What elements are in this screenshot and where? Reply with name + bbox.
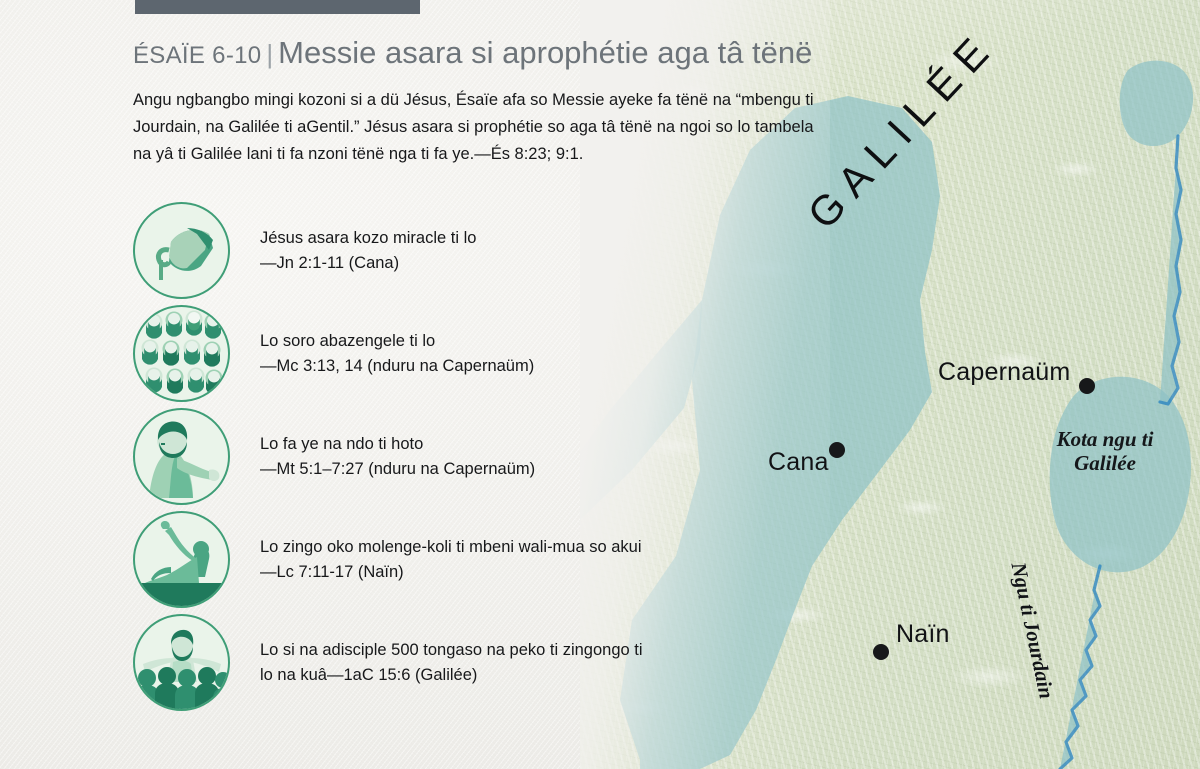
sea-label-line-2: Galilée xyxy=(1040,452,1170,476)
list-item: Lo si na adisciple 500 tongaso na peko t… xyxy=(133,611,863,714)
map-city-label-nain: Naïn xyxy=(896,620,950,649)
list-item-text: Lo soro abazengele ti lo —Mc 3:13, 14 (n… xyxy=(260,329,534,379)
map-city-dot-capernaum xyxy=(1078,377,1096,395)
list-item: Lo zingo oko molenge-koli ti mbeni wali-… xyxy=(133,508,863,611)
list-item-text: Lo fa ye na ndo ti hoto —Mt 5:1–7:27 (nd… xyxy=(260,432,535,482)
event-line-2: lo na kuâ—1aC 15:6 (Galilée) xyxy=(260,663,643,688)
jesus-crowd-icon xyxy=(133,614,230,711)
event-line-1: Lo si na adisciple 500 tongaso na peko t… xyxy=(260,638,643,663)
event-line-1: Jésus asara kozo miracle ti lo xyxy=(260,226,476,251)
list-item: Jésus asara kozo miracle ti lo —Jn 2:1-1… xyxy=(133,199,863,302)
title-separator: | xyxy=(261,39,278,69)
page-title: ÉSAÏE 6-10|Messie asara si aprophétie ag… xyxy=(133,36,863,70)
water-jar-icon xyxy=(133,202,230,299)
title-main-text: Messie asara si aprophétie aga tâ tënë xyxy=(278,35,812,70)
list-item: Lo fa ye na ndo ti hoto —Mt 5:1–7:27 (nd… xyxy=(133,405,863,508)
infographic-page: GALILÉE Capernaüm Cana Naïn Kota ngu ti … xyxy=(0,0,1200,769)
event-line-2: —Lc 7:11-17 (Naïn) xyxy=(260,560,642,585)
event-line-2: —Mc 3:13, 14 (nduru na Capernaüm) xyxy=(260,354,534,379)
jesus-teaching-icon xyxy=(133,408,230,505)
twelve-apostles-icon xyxy=(133,305,230,402)
list-item-text: Lo zingo oko molenge-koli ti mbeni wali-… xyxy=(260,535,642,585)
events-list: Jésus asara kozo miracle ti lo —Jn 2:1-1… xyxy=(133,199,863,714)
event-line-2: —Jn 2:1-11 (Cana) xyxy=(260,251,476,276)
map-city-label-capernaum: Capernaüm xyxy=(938,358,1070,387)
header-accent-bar xyxy=(135,0,420,14)
intro-paragraph: Angu ngbangbo mingi kozoni si a dü Jésus… xyxy=(133,87,833,167)
list-item-text: Jésus asara kozo miracle ti lo —Jn 2:1-1… xyxy=(260,226,476,276)
raising-from-bier-icon xyxy=(133,511,230,608)
map-city-dot-nain xyxy=(872,643,890,661)
event-line-1: Lo zingo oko molenge-koli ti mbeni wali-… xyxy=(260,535,642,560)
sea-label-line-1: Kota ngu ti xyxy=(1040,428,1170,452)
map-sea-of-galilee-label: Kota ngu ti Galilée xyxy=(1040,428,1170,475)
event-line-1: Lo soro abazengele ti lo xyxy=(260,329,534,354)
list-item: Lo soro abazengele ti lo —Mc 3:13, 14 (n… xyxy=(133,302,863,405)
event-line-1: Lo fa ye na ndo ti hoto xyxy=(260,432,535,457)
list-item-text: Lo si na adisciple 500 tongaso na peko t… xyxy=(260,638,643,688)
event-line-2: —Mt 5:1–7:27 (nduru na Capernaüm) xyxy=(260,457,535,482)
content-column: ÉSAÏE 6-10|Messie asara si aprophétie ag… xyxy=(133,36,863,714)
scripture-reference: ÉSAÏE 6-10 xyxy=(133,42,261,69)
